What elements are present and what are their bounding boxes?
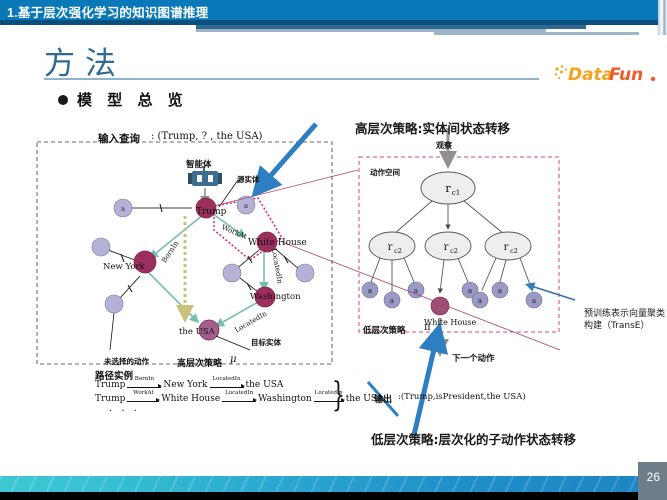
path2-rel-1: WorkAt <box>133 390 154 396</box>
callout-arrow-high-level <box>258 124 316 190</box>
svg-text:c2: c2 <box>394 247 402 255</box>
node-label-the-usa: the USA <box>179 327 215 337</box>
callout-low-level-policy: 低层次策略:层次化的子动作状态转移 <box>371 429 576 448</box>
svg-text:a: a <box>390 297 394 305</box>
path1-rel-1: BornIn <box>135 376 154 382</box>
callout-transe: 预训练表示向量聚类构建（TransE） <box>584 308 666 332</box>
svg-text:r: r <box>504 242 509 253</box>
svg-text:c2: c2 <box>450 247 458 255</box>
header-right-edge <box>658 0 667 35</box>
node-candidate <box>105 295 123 313</box>
svg-text:c1: c1 <box>452 189 460 197</box>
node-label-trump: Trump <box>196 207 226 217</box>
node-label-washington: Washington <box>250 292 301 302</box>
svg-text:a: a <box>121 205 125 213</box>
bullet-dot-icon <box>58 95 68 105</box>
source-entity-label: 源实体 <box>237 174 260 185</box>
title-underline <box>44 78 539 80</box>
path2-arrow-1: WorkAt <box>127 396 159 402</box>
target-entity-label: 目标实体 <box>251 337 281 348</box>
svg-text:r: r <box>445 182 451 195</box>
callout-arrow-low-level <box>414 332 438 435</box>
header-title: 1.基于层次强化学习的知识图谱推理 <box>7 2 208 21</box>
page-number: 26 <box>647 470 660 484</box>
tree-label-white-house: White House <box>424 318 476 327</box>
svg-text:Fun: Fun <box>609 65 643 85</box>
path2-start: Trump <box>95 394 125 404</box>
bullet-label: 模 型 总 览 <box>77 89 188 110</box>
slide: 1.基于层次强化学习的知识图谱推理 方法 模 型 总 览 Data Fun <box>0 0 667 500</box>
path2-rel-2: LocatedIn <box>225 390 253 396</box>
next-action-label: 下一个动作 <box>452 352 495 364</box>
path2-mid-1: White House <box>161 394 220 404</box>
low-level-policy-label: 低层次策略 <box>363 324 406 336</box>
path2-arrow-2: LocatedIn <box>222 396 256 402</box>
callout-high-level-policy: 高层次策略:实体间状态转移 <box>355 118 510 137</box>
output-label: 输出 <box>374 392 392 405</box>
path1-rel-2: LocatedIn <box>213 376 241 382</box>
svg-text:r: r <box>388 242 393 253</box>
unselected-action-label: 未选择的动作 <box>104 356 149 367</box>
output-value: :(Trump,isPresident,the USA) <box>398 392 526 402</box>
observe-label: 观察 <box>436 140 452 151</box>
footer-band <box>0 476 638 492</box>
node-candidate <box>223 264 241 282</box>
input-query-label: 输入查询 <box>98 131 140 146</box>
svg-text:a: a <box>532 297 536 305</box>
svg-text:a: a <box>368 287 372 295</box>
path1-start: Trump <box>95 380 125 390</box>
high-level-policy-label: 高层次策略 <box>177 356 222 369</box>
path1-arrow-2: LocatedIn <box>210 382 244 388</box>
node-label-new-york: New York <box>103 262 145 272</box>
svg-text:a: a <box>478 297 482 305</box>
input-query-value: : (Trump, ? , the USA) <box>151 131 262 142</box>
node-label-white-house: White House <box>248 238 307 248</box>
high-level-policy-symbol: μ <box>230 354 237 365</box>
svg-text:c2: c2 <box>510 247 518 255</box>
svg-text:a: a <box>498 287 502 295</box>
path2-mid-2: Washington <box>258 394 312 404</box>
action-space-label: 动作空间 <box>370 167 400 178</box>
node-candidate <box>296 264 314 282</box>
svg-text:Data: Data <box>568 65 613 85</box>
svg-text:a: a <box>468 287 472 295</box>
agent-label: 智能体 <box>186 158 212 170</box>
page-title: 方法 <box>44 38 126 83</box>
path1-arrow-1: BornIn <box>127 382 161 388</box>
output-brace: } <box>332 375 345 415</box>
datafun-logo: Data Fun <box>552 62 664 86</box>
path1-mid: New York <box>163 380 207 390</box>
svg-text:r: r <box>444 242 449 253</box>
svg-text:a: a <box>244 202 248 210</box>
path1-end: the USA <box>246 380 284 390</box>
footer-black-bar <box>0 492 638 500</box>
bullet-item-model-overview: 模 型 总 览 <box>58 89 188 110</box>
header-decoration-3 <box>434 32 639 35</box>
node-candidate <box>92 238 110 256</box>
